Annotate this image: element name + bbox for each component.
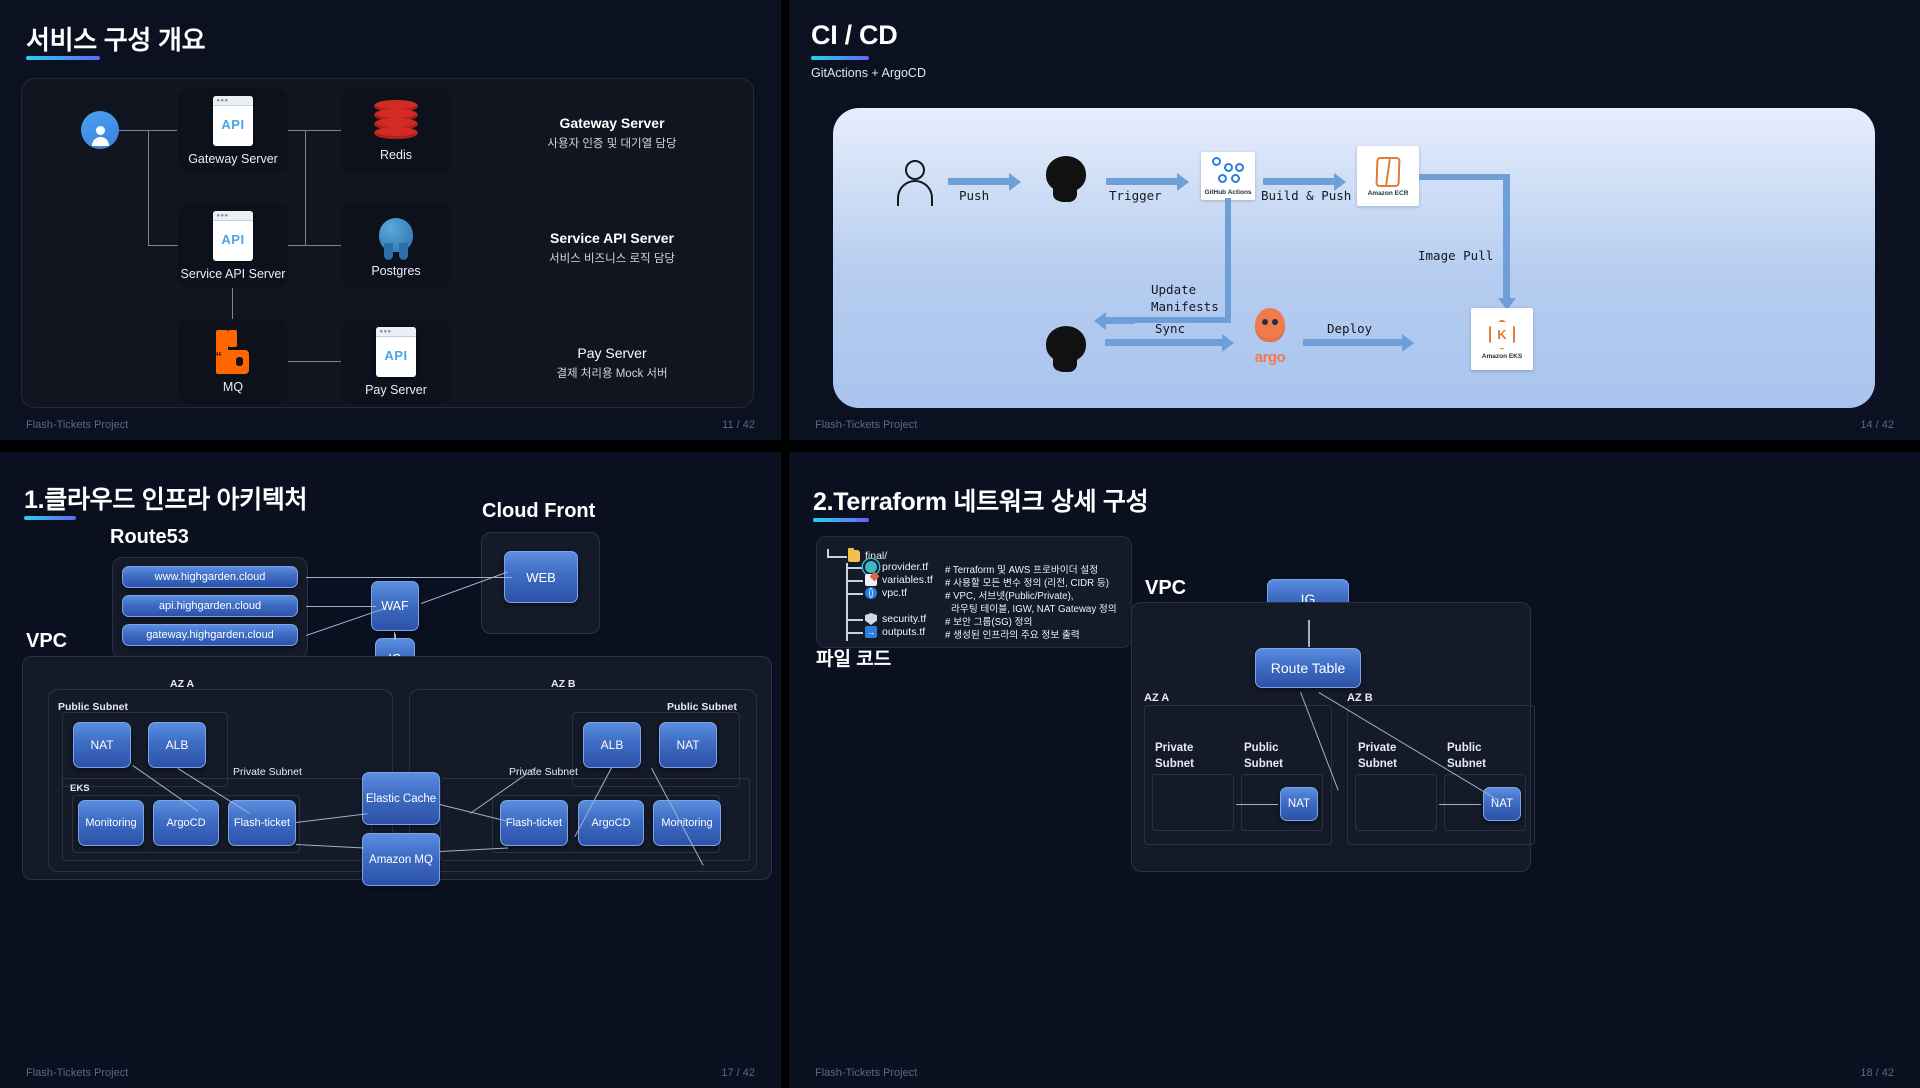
- connector: [288, 361, 341, 362]
- section-heading-file-code: 파일 코드: [816, 644, 891, 671]
- flow-label-build-push: Build & Push: [1261, 188, 1351, 203]
- node-nat-b[interactable]: NAT: [659, 722, 717, 768]
- description-gateway: Gateway Server 사용자 인증 및 대기열 담당: [502, 115, 722, 151]
- label-az-a: AZ A: [170, 678, 194, 690]
- api-label: API: [384, 348, 407, 363]
- amazon-eks-icon: Amazon EKS: [1471, 308, 1533, 370]
- connector: [1225, 198, 1231, 323]
- connector: [305, 130, 306, 246]
- tree-item-variables[interactable]: variables.tf: [865, 574, 933, 586]
- slide-grid: 서비스 구성 개요 API Gateway Server: [0, 0, 1920, 1088]
- label-private-subnet-a: Private Subnet: [233, 766, 302, 778]
- argo-head-glyph: [1255, 308, 1285, 342]
- tree-item-comment: # 보안 그룹(SG) 정의: [945, 614, 1032, 628]
- description-subtitle: 서비스 비즈니스 로직 담당: [502, 250, 722, 266]
- rabbitmq-icon: [213, 330, 253, 374]
- connector: [1308, 620, 1310, 647]
- arrow-build-push: [1263, 178, 1335, 185]
- tree-item-name: vpc.tf: [882, 587, 907, 599]
- tree-stem: [846, 593, 863, 595]
- ecr-cube-glyph: [1373, 156, 1403, 188]
- connector: [394, 634, 396, 640]
- connector: [148, 245, 178, 246]
- arrow-update-manifests: [1105, 317, 1135, 324]
- tree-stem: [846, 563, 848, 641]
- node-service-api-server[interactable]: API Service API Server: [178, 203, 288, 288]
- connector: [306, 606, 376, 607]
- tree-stem: [846, 580, 863, 582]
- flow-label-manifests: Manifests: [1151, 299, 1219, 314]
- label-az-a: AZ A: [1144, 692, 1169, 704]
- page-title: 2.Terraform 네트워크 상세 구성: [813, 482, 1148, 518]
- tree-item-name: variables.tf: [882, 574, 933, 586]
- node-web[interactable]: WEB: [504, 551, 578, 603]
- description-service-api: Service API Server 서비스 비즈니스 로직 담당: [502, 230, 722, 266]
- github-icon: [1043, 326, 1089, 372]
- footer-page-number: 11 / 42: [722, 419, 755, 431]
- label-az-b: AZ B: [551, 678, 576, 690]
- node-nat-b[interactable]: NAT: [1483, 787, 1521, 821]
- folder-icon: [848, 550, 860, 562]
- label-public-subnet-b-l1: Public: [1447, 742, 1482, 754]
- label-eks: EKS: [70, 783, 90, 794]
- connector: [1439, 804, 1481, 805]
- label-az-b: AZ B: [1347, 692, 1373, 704]
- slide-cicd: CI / CD GitActions + ArgoCD Push Trigger…: [789, 0, 1920, 440]
- tree-item-outputs[interactable]: outputs.tf: [865, 626, 925, 638]
- divider-horizontal: [0, 440, 1920, 452]
- flow-label-update: Update: [1151, 282, 1196, 297]
- label-private-subnet-b-l2: Subnet: [1358, 758, 1397, 770]
- label-vpc: VPC: [1145, 577, 1186, 600]
- description-subtitle: 사용자 인증 및 대기열 담당: [502, 135, 722, 151]
- route53-record-www[interactable]: www.highgarden.cloud: [122, 566, 298, 588]
- description-title: Service API Server: [502, 230, 722, 246]
- node-gateway-server[interactable]: API Gateway Server: [178, 88, 288, 173]
- node-label: Gateway Server: [188, 152, 278, 166]
- tree-item-comment: # Terraform 및 AWS 프로바이더 설정: [945, 562, 1098, 576]
- node-elastic-cache[interactable]: Elastic Cache: [362, 772, 440, 825]
- tree-item-name: provider.tf: [882, 561, 928, 573]
- node-argocd-a[interactable]: ArgoCD: [153, 800, 219, 846]
- label-vpc: VPC: [26, 630, 67, 653]
- slide-service-overview: 서비스 구성 개요 API Gateway Server: [0, 0, 781, 440]
- page-title: CI / CD: [811, 20, 897, 51]
- node-monitoring-a[interactable]: Monitoring: [78, 800, 144, 846]
- footer-page-number: 17 / 42: [721, 1067, 755, 1079]
- arrow-trigger: [1106, 178, 1178, 185]
- divider-vertical: [781, 0, 789, 440]
- label-cloudfront: Cloud Front: [482, 500, 595, 523]
- node-waf[interactable]: WAF: [371, 581, 419, 631]
- eks-k-glyph: [1487, 319, 1517, 351]
- connector: [288, 245, 341, 246]
- description-subtitle: 결제 처리용 Mock 서버: [502, 365, 722, 381]
- route53-record-gateway[interactable]: gateway.highgarden.cloud: [122, 624, 298, 646]
- title-underline: [24, 516, 76, 520]
- node-flash-ticket-b[interactable]: Flash-ticket: [500, 800, 568, 846]
- footer-project-name: Flash-Tickets Project: [815, 1067, 917, 1079]
- logo-caption: argo: [1247, 349, 1293, 366]
- argo-icon: argo: [1247, 308, 1293, 366]
- node-alb-b[interactable]: ALB: [583, 722, 641, 768]
- github-actions-glyph: [1211, 157, 1245, 187]
- private-subnet-b-box: [1355, 774, 1437, 831]
- arrow-push: [948, 178, 1010, 185]
- connector: [306, 577, 512, 578]
- node-nat-a[interactable]: NAT: [73, 722, 131, 768]
- tree-item-security[interactable]: security.tf: [865, 613, 926, 625]
- node-nat-a[interactable]: NAT: [1280, 787, 1318, 821]
- postgres-icon: [375, 214, 417, 258]
- divider-vertical: [781, 452, 789, 1088]
- route53-record-api[interactable]: api.highgarden.cloud: [122, 595, 298, 617]
- user-avatar-icon: [81, 111, 119, 149]
- api-window-icon: API: [213, 211, 253, 261]
- amazon-ecr-icon: Amazon ECR: [1357, 146, 1419, 206]
- gear-icon: [865, 561, 877, 573]
- label-public-subnet-b-l2: Subnet: [1447, 758, 1486, 770]
- slide-cloud-infra: 1.클라우드 인프라 아키텍처 Route53 Cloud Front VPC …: [0, 452, 781, 1088]
- arrow-icon: [865, 626, 877, 638]
- page-subtitle: GitActions + ArgoCD: [811, 66, 926, 80]
- title-underline: [813, 518, 869, 522]
- tree-item-comment-wrap: 라우팅 테이블, IGW, NAT Gateway 정의: [951, 601, 1117, 615]
- node-redis[interactable]: Redis: [341, 88, 451, 173]
- node-amazon-mq[interactable]: Amazon MQ: [362, 833, 440, 886]
- connector: [288, 130, 341, 131]
- flow-label-trigger: Trigger: [1109, 188, 1162, 203]
- title-underline: [811, 56, 869, 60]
- github-actions-icon: GitHub Actions: [1201, 152, 1255, 200]
- node-argocd-b[interactable]: ArgoCD: [578, 800, 644, 846]
- flow-label-deploy: Deploy: [1327, 321, 1372, 336]
- tree-item-name: security.tf: [882, 613, 926, 625]
- private-subnet-a-box: [1152, 774, 1234, 831]
- label-private-subnet-a-l2: Subnet: [1155, 758, 1194, 770]
- footer-page-number: 18 / 42: [1860, 1067, 1894, 1079]
- connector: [1419, 174, 1509, 180]
- node-pay-server[interactable]: API Pay Server: [341, 319, 451, 404]
- tree-stem: [846, 567, 863, 569]
- footer-page-number: 14 / 42: [1860, 419, 1894, 431]
- label-public-subnet-a-l2: Subnet: [1244, 758, 1283, 770]
- tree-item-comment: # 사용할 모든 변수 정의 (리전, CIDR 등): [945, 575, 1109, 589]
- node-mq[interactable]: MQ: [178, 319, 288, 404]
- footer-project-name: Flash-Tickets Project: [26, 419, 128, 431]
- label-private-subnet-a-l1: Private: [1155, 742, 1193, 754]
- slide-terraform: 2.Terraform 네트워크 상세 구성 파일 코드 final/ prov…: [789, 452, 1920, 1088]
- tree-item-comment: # VPC, 서브넷(Public/Private),: [945, 588, 1074, 602]
- tree-item-vpc[interactable]: vpc.tf: [865, 587, 907, 599]
- api-window-icon: API: [213, 96, 253, 146]
- globe-icon: [865, 587, 877, 599]
- arrow-image-pull: [1503, 174, 1510, 299]
- node-label: MQ: [223, 380, 243, 394]
- footer-project-name: Flash-Tickets Project: [26, 1067, 128, 1079]
- cicd-diagram-panel: Push Trigger GitHub Actions Build & Push…: [833, 108, 1875, 408]
- redis-icon: [374, 100, 418, 142]
- node-label: Postgres: [371, 264, 420, 278]
- label-private-subnet-b: Private Subnet: [509, 766, 578, 778]
- tree-item-comment: # 생성된 인프라의 주요 정보 출력: [945, 627, 1080, 641]
- page-title: 1.클라우드 인프라 아키텍처: [24, 480, 307, 516]
- arrow-sync: [1105, 339, 1223, 346]
- node-label: Service API Server: [181, 267, 286, 281]
- description-pay: Pay Server 결제 처리용 Mock 서버: [502, 345, 722, 381]
- label-public-subnet-a-l1: Public: [1244, 742, 1279, 754]
- node-label: Redis: [380, 148, 412, 162]
- tree-item-name: outputs.tf: [882, 626, 925, 638]
- node-alb-a[interactable]: ALB: [148, 722, 206, 768]
- node-label: Pay Server: [365, 383, 427, 397]
- label-route53: Route53: [110, 526, 189, 549]
- description-title: Pay Server: [502, 345, 722, 361]
- label-private-subnet-b-l1: Private: [1358, 742, 1396, 754]
- flow-label-sync: Sync: [1155, 321, 1185, 336]
- node-monitoring-b[interactable]: Monitoring: [653, 800, 721, 846]
- node-postgres[interactable]: Postgres: [341, 203, 451, 288]
- github-icon: [1043, 156, 1089, 202]
- flow-label-image-pull: Image Pull: [1418, 248, 1493, 263]
- tree-stem: [827, 556, 847, 558]
- footer-project-name: Flash-Tickets Project: [815, 419, 917, 431]
- connector: [1236, 804, 1278, 805]
- shield-icon: [865, 613, 877, 625]
- flow-label-push: Push: [959, 188, 989, 203]
- api-label: API: [221, 117, 244, 132]
- api-label: API: [221, 232, 244, 247]
- page-title: 서비스 구성 개요: [26, 20, 205, 57]
- title-underline: [26, 56, 100, 60]
- logo-caption: Amazon EKS: [1482, 353, 1522, 360]
- arrow-deploy: [1303, 339, 1403, 346]
- node-route-table[interactable]: Route Table: [1255, 648, 1361, 688]
- developer-icon: [895, 160, 931, 202]
- tree-stem: [846, 632, 863, 634]
- tree-stem: [846, 619, 863, 621]
- pencil-icon: [865, 574, 877, 586]
- logo-caption: Amazon ECR: [1368, 190, 1409, 197]
- description-title: Gateway Server: [502, 115, 722, 131]
- connector: [148, 130, 149, 246]
- logo-caption: GitHub Actions: [1204, 189, 1251, 196]
- architecture-panel: API Gateway Server Redis API Service API…: [21, 78, 754, 408]
- file-tree-panel: final/ provider.tf # Terraform 및 AWS 프로바…: [816, 536, 1132, 648]
- api-window-icon: API: [376, 327, 416, 377]
